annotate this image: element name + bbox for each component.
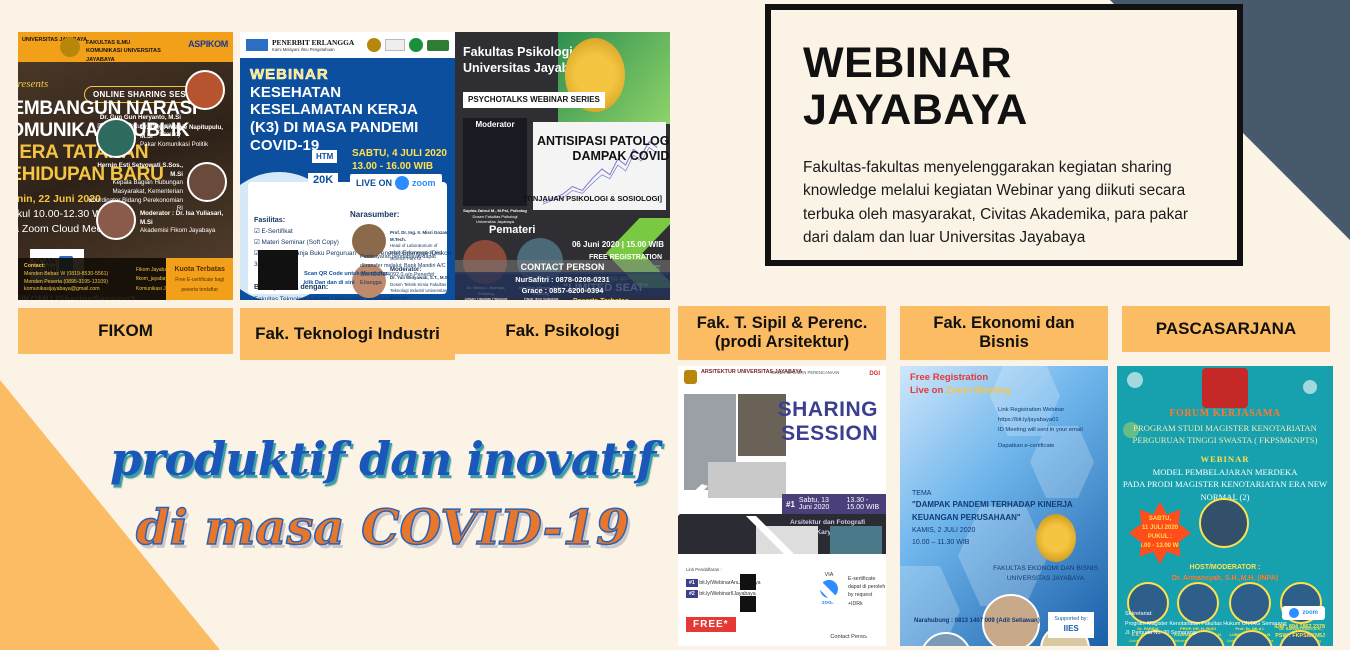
zoom-icon <box>820 580 838 598</box>
ars-free-badge: FREE* <box>686 617 736 632</box>
ti-schedule: SABTU, 4 JULI 2020 13.00 - 16.00 WIB <box>352 147 447 173</box>
pasca-webinar: WEBINAR <box>1117 454 1333 464</box>
ars-brand-sub: TEKNIK SIPIL DAN PERENCANAAN <box>770 370 839 376</box>
chip-arsitektur-line2: (prodi Arsitektur) <box>715 333 849 352</box>
fikom-banner-center: FAKULTAS ILMU KOMUNIKASI UNIVERSITAS JAY… <box>86 39 161 64</box>
poster-ekonomi[interactable]: Free Registration Live on Zoom Meeting L… <box>900 366 1108 646</box>
ars-brand-bar: ARSITEKTUR UNIVERSITAS JAYABAYA TEKNIK S… <box>678 366 886 388</box>
fikom-content: presents ONLINE SHARING SESSION 3 MEMBAN… <box>18 62 233 300</box>
fikom-moderator: Moderator : Dr. Isa Yuliasari, M.Si Akad… <box>140 210 230 236</box>
eko-whatsapp: Narahubung : 0813 1407 009 (Adit Setiawa… <box>914 617 1040 626</box>
ars-via: VIA zoom <box>820 572 838 606</box>
ars-session-1-date: Sabtu, 13 Juni 2020 <box>799 497 843 511</box>
eko-live-on: Live on Zoom Meeting <box>910 385 1010 398</box>
pasca-seal-icon <box>1202 368 1248 408</box>
fikom-avatar-4 <box>96 200 136 240</box>
ti-narasumber-label: Narasumber: <box>350 210 399 219</box>
ti-qr-code[interactable] <box>258 250 298 290</box>
fikom-banner: UNIVERSITAS JAYABAYA FAKULTAS ILMU KOMUN… <box>18 32 233 62</box>
pasca-meeting-info: IDM : 894 1862 2378 PSW : FKPSMKN5J <box>1274 623 1325 640</box>
psi-pemateri-label: Pemateri <box>489 224 535 236</box>
ti-title: KESEHATANKESELAMATAN KERJA(K3) DI MASA P… <box>250 84 418 155</box>
chip-fikom[interactable]: FIKOM <box>18 308 233 354</box>
page-title: WEBINAR JAYABAYA <box>803 40 1211 134</box>
ars-qr-1[interactable] <box>740 574 756 590</box>
chip-psikologi[interactable]: Fak. Psikologi <box>455 308 670 354</box>
poster-psikologi[interactable]: Fakultas Psikologi Universitas Jayabaya … <box>455 32 670 300</box>
header-description: Fakultas-fakultas menyelenggarakan kegia… <box>803 156 1211 250</box>
fikom-kuota: Kuota Terbatas Free E-certificate bagi p… <box>166 258 233 300</box>
poster-pascasarjana[interactable]: FORUM KERJASAMA PROGRAM STUDI MAGISTER K… <box>1117 366 1333 646</box>
header-card: WEBINAR JAYABAYA Fakultas-fakultas menye… <box>765 4 1243 266</box>
psi-contact-1: NurSafitri : 0878-0208-0231 <box>455 274 670 285</box>
zoom-icon <box>395 176 409 190</box>
ars-qr-2[interactable] <box>740 596 756 612</box>
pasca-zoom-badge: zoom <box>1282 606 1325 620</box>
ars-link-label: Link Pendaftaran : <box>686 567 722 572</box>
poster-fikom[interactable]: UNIVERSITAS JAYABAYA FAKULTAS ILMU KOMUN… <box>18 32 233 300</box>
ti-kicker: WEBINAR <box>250 66 418 84</box>
ti-htm-label: HTM <box>312 150 337 163</box>
eko-tema-text: "DAMPAK PANDEMI TERHADAP KINERJA KEUANGA… <box>912 499 1108 525</box>
ti-headline: WEBINAR KESEHATANKESELAMATAN KERJA(K3) D… <box>250 66 418 154</box>
aspikom-logo: ASPIKOM <box>188 39 228 49</box>
chip-ekonomi[interactable]: Fak. Ekonomi dan Bisnis <box>900 306 1108 360</box>
fikom-avatar-1 <box>185 70 225 110</box>
ars-title: SHARING SESSION <box>778 398 878 446</box>
psi-subtitle: [TINJAUAN PSIKOLOGI & SOSIOLOGI] <box>524 194 662 203</box>
psi-moderator-photo <box>463 118 527 206</box>
psi-series-badge: PSYCHOTALKS WEBINAR SERIES <box>463 92 605 108</box>
psi-date: 06 Juni 2020 | 15.00 WIB <box>572 240 664 249</box>
psi-limited-sub: Peserta Terbatas <box>573 298 629 300</box>
eko-date: KAMIS, 2 JULI 2020 <box>912 525 1108 536</box>
eko-supported: Supported by: IIES <box>1048 612 1094 638</box>
psi-contact-2: Grace : 0857-6200-0394 <box>455 285 670 296</box>
chip-ekonomi-line1: Fak. Ekonomi dan <box>933 314 1074 333</box>
eko-tema-label: TEMA <box>912 488 1108 499</box>
chip-ekonomi-line2: Bisnis <box>979 333 1029 352</box>
eko-tema: TEMA "DAMPAK PANDEMI TERHADAP KINERJA KE… <box>912 488 1108 548</box>
zoom-icon <box>1289 608 1299 618</box>
kampus-logo-icon <box>427 40 449 51</box>
title-line-2: JAYABAYA <box>803 87 1211 134</box>
dgi-logo: DGI <box>869 371 880 377</box>
title-line-1: WEBINAR <box>803 40 1211 87</box>
ti-fasilitas-title: Fasilitas: <box>254 215 285 224</box>
fikom-speaker-3: Hernin Esti Setyowati S.Sos., M.Si Kepal… <box>83 162 183 214</box>
fikom-presents: presents <box>18 78 48 90</box>
ars-contact-label: Contact Person : <box>830 634 872 640</box>
pasca-deco-dot-1 <box>1127 372 1143 388</box>
ars-photo-3 <box>708 462 786 498</box>
ti-publisher: PENERBIT ERLANGGA <box>272 38 354 47</box>
ars-session-1-time: 13.30 - 15.00 WIB <box>847 497 887 511</box>
pasca-deco-dot-2 <box>1303 380 1317 394</box>
chip-arsitektur-line1: Fak. T. Sipil & Perenc. <box>697 314 868 333</box>
pasca-program: PROGRAM STUDI MAGISTER KENOTARIATAN PERG… <box>1117 422 1333 447</box>
eko-free-reg: Free Registration Live on Zoom Meeting <box>910 372 1010 398</box>
chip-pascasarjana[interactable]: PASCASARJANA <box>1122 306 1330 352</box>
chip-arsitektur[interactable]: Fak. T. Sipil & Perenc. (prodi Arsitektu… <box>678 306 886 360</box>
jayabaya-seal-icon <box>684 370 697 384</box>
eko-time: 10.00 – 11.30 WIB <box>912 537 1108 548</box>
tagline-line-1: produktif dan inovatif <box>110 432 655 486</box>
jayabaya-seal-icon <box>367 38 381 52</box>
ti-live-on: LIVE ON zoom <box>350 174 442 192</box>
psi-moderator-label: Moderator <box>463 120 527 129</box>
erlangga-logo-icon <box>246 39 268 51</box>
poster-arsitektur[interactable]: ARSITEKTUR UNIVERSITAS JAYABAYA TEKNIK S… <box>678 366 886 646</box>
ars-session-1-no: #1 <box>786 500 795 509</box>
eko-faculty: FAKULTAS EKONOMI DAN BISNIS UNIVERSITAS … <box>993 564 1098 584</box>
ars-session-1-band: #1 Sabtu, 13 Juni 2020 13.30 - 15.00 WIB <box>782 494 886 514</box>
jayabaya-seal-icon <box>1036 514 1076 562</box>
poster-teknologi-industri[interactable]: PENERBIT ERLANGGA Kami Melayani Ilmu Pen… <box>240 32 455 300</box>
eko-registration: Link Registration Webinar https://bit.ly… <box>998 406 1083 451</box>
pasca-secretariat: Sekretariat: Program Magister Kenotariat… <box>1125 610 1287 638</box>
pasca-forum: FORUM KERJASAMA <box>1117 408 1333 419</box>
pasca-host-avatar <box>1199 498 1249 548</box>
ti-publisher-sub: Kami Melayani Ilmu Pengetahuan <box>272 47 354 52</box>
psi-title: ANTISIPASI PATOLOGI SOSIAL DAMPAK COVID-… <box>537 134 670 164</box>
ti-partner-bar: PENERBIT ERLANGGA Kami Melayani Ilmu Pen… <box>240 32 455 58</box>
psi-contacts: NurSafitri : 0878-0208-0231 Grace : 0857… <box>455 272 670 298</box>
akreditasi-logo-icon <box>385 39 405 51</box>
fikom-speaker-2: Dr. Lely Arrianie Napitupulu, M.Si Pakar… <box>140 124 230 150</box>
ars-ecert: E-sertificate dapat di peroleh by reques… <box>848 575 886 608</box>
ti-payment: Pembayaran pendaftaran dapat ditransfer … <box>360 253 455 288</box>
poster-canvas: WEBINAR JAYABAYA Fakultas-fakultas menye… <box>0 0 1350 650</box>
jayabaya-seal-icon <box>60 37 80 57</box>
ti-price: 20K <box>308 173 338 187</box>
psi-moderator-name: Sophia Zahrul M., M.Psi, Psikolog Dosen … <box>463 208 527 225</box>
tagline-line-2: di masa COVID-19 <box>136 500 629 556</box>
chip-teknologi-industri[interactable]: Fak. Teknologi Industri <box>240 308 455 360</box>
partner-logo-icon <box>409 38 423 52</box>
fikom-avatar-3 <box>187 162 227 202</box>
fikom-avatar-2 <box>96 118 136 158</box>
